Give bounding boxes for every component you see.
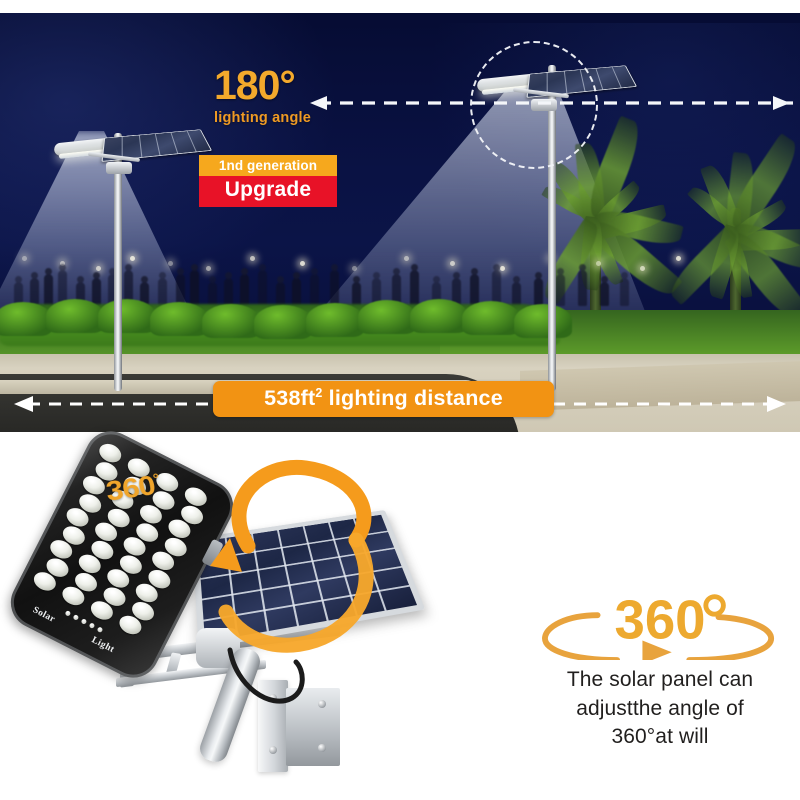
distance-label: lighting distance <box>322 387 502 411</box>
rotation-feature-caption: The solar panel can adjustthe angle of 3… <box>520 666 800 752</box>
product-marketing-page: 180° lighting angle 1nd generation Upgra… <box>0 0 800 800</box>
panel-360-value: 360 <box>104 469 158 507</box>
product-detail-section: 360° Solar Light <box>0 432 800 800</box>
lighting-distance-text: 538ft2 lighting distance <box>264 386 503 411</box>
bush <box>254 305 312 339</box>
street-lamp-left <box>58 129 178 391</box>
solar-street-light-product-photo: 360° Solar Light <box>20 432 440 800</box>
upgrade-badge: 1nd generation Upgrade <box>199 155 337 207</box>
lighting-angle-label: 180° lighting angle <box>214 65 311 126</box>
bush <box>358 300 416 334</box>
bush <box>202 304 260 338</box>
bush <box>0 302 52 336</box>
svg-text:360: 360 <box>614 590 705 651</box>
bolt <box>269 746 277 754</box>
rotation-loop-arrow <box>190 454 400 684</box>
rotation-feature-block: 360 The solar panel can adjustthe angle … <box>520 582 800 752</box>
rotation-arrow-icon: 360 <box>520 582 800 660</box>
generation-label: 1nd generation <box>199 155 337 176</box>
bush <box>410 299 468 333</box>
lighting-angle-caption: lighting angle <box>214 110 311 126</box>
caption-line-1: The solar panel can <box>520 666 800 695</box>
night-scene-photo: 180° lighting angle 1nd generation Upgra… <box>0 13 800 432</box>
lighting-distance-banner: 538ft2 lighting distance <box>213 381 554 417</box>
bush <box>306 303 364 337</box>
caption-line-2: adjustthe angle of <box>520 695 800 724</box>
lighting-angle-value: 180° <box>214 65 311 106</box>
distant-light <box>640 266 645 271</box>
logo-360: 360 <box>520 582 800 660</box>
horizontal-dashed-double-arrow <box>0 91 800 115</box>
distance-number: 538ft <box>264 387 315 411</box>
bolt <box>318 744 326 752</box>
lamp-bracket <box>106 162 132 174</box>
distant-light <box>676 256 681 261</box>
caption-line-3: 360°at will <box>520 723 800 752</box>
upgrade-label: Upgrade <box>199 176 337 207</box>
person-silhouette <box>620 278 629 306</box>
